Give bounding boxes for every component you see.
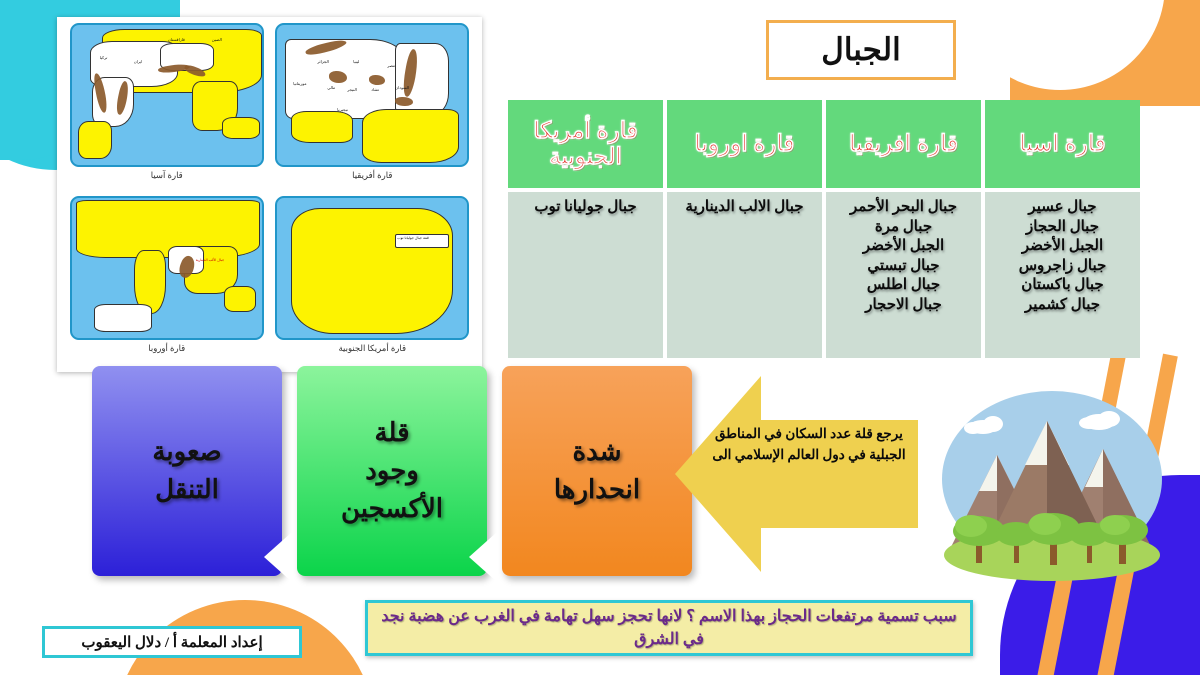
map-panel-asia: ايران تركيا قازاقستان الصين قارة آسيا <box>65 23 269 194</box>
chevron-box-oxygen[interactable]: قلة وجود الأكسجين <box>297 366 487 576</box>
map-label: الجزائر <box>317 59 329 64</box>
map-label: مصر <box>387 63 395 68</box>
map-caption-asia: قارة آسيا <box>151 170 183 181</box>
map-label-dinaric-alps: جبال الألب الدينارية <box>196 258 225 262</box>
map-caption-africa: قارة أفريقيا <box>352 170 392 181</box>
maps-image-card: الجزائر ليبيا مصر موريتانيا مالي النيجر … <box>57 17 482 372</box>
map-label: موريتانيا <box>293 81 306 86</box>
yellow-callout-arrow-text: يرجع قلة عدد السكان في المناطق الجبلية ف… <box>711 424 907 466</box>
bottom-info-banner: سبب تسمية مرتفعات الحجاز بهذا الاسم ؟ لا… <box>365 600 973 656</box>
table-cell-europe: جبال الالب الدينارية <box>667 192 822 358</box>
slide-canvas: الجزائر ليبيا مصر موريتانيا مالي النيجر … <box>0 0 1200 675</box>
map-caption-europe: قارة أوروبا <box>148 343 185 354</box>
list-item: جبال اطلس <box>834 276 973 296</box>
map-frame-europe: جبال الألب الدينارية <box>70 196 264 340</box>
mountains-icon <box>935 387 1170 582</box>
chevron-arrow-icon <box>264 532 292 582</box>
table-header-label: قارة افريقيا <box>849 131 958 157</box>
table-cell-south-america: جبال جوليانا توب <box>508 192 663 358</box>
list-item: جبال جوليانا توب <box>516 198 655 218</box>
map-label: تشاد <box>371 87 379 92</box>
chevron-line: وجود <box>365 456 419 485</box>
chevron-box-mobility-label: صعوبة التنقل <box>152 433 221 508</box>
list-item: جبال زاجروس <box>993 257 1132 277</box>
chevron-line: الأكسجين <box>341 494 443 523</box>
map-panel-south-america: قمة جبال جوليانا توب قارة أمريكا الجنوبي… <box>271 196 475 367</box>
chevron-box-oxygen-label: قلة وجود الأكسجين <box>341 414 443 527</box>
mountains-illustration <box>935 387 1170 582</box>
map-frame-south-america: قمة جبال جوليانا توب <box>275 196 469 340</box>
list-item: جبال الاحجار <box>834 296 973 316</box>
bottom-info-banner-text: سبب تسمية مرتفعات الحجاز بهذا الاسم ؟ لا… <box>380 605 958 651</box>
page-title-text: الجبال <box>821 32 900 68</box>
effects-chevron-row: شدة انحدارها قلة وجود الأكسجين صعوبة الت… <box>92 366 692 588</box>
mountains-table: قارة اسيا قارة افريقيا قارة اوروبا قارة … <box>508 100 1140 358</box>
chevron-box-mobility[interactable]: صعوبة التنقل <box>92 366 282 576</box>
chevron-arrow-icon <box>469 532 497 582</box>
table-header-label: قارة اوروبا <box>694 131 794 157</box>
yellow-callout-arrow: يرجع قلة عدد السكان في المناطق الجبلية ف… <box>673 368 918 580</box>
table-header-label: قارة اسيا <box>1019 131 1106 157</box>
author-credit-box: إعداد المعلمة أ / دلال اليعقوب <box>42 626 302 658</box>
list-item: جبال مرة <box>834 218 973 238</box>
list-item: جبال الحجاز <box>993 218 1132 238</box>
map-label: ليبيا <box>353 59 359 64</box>
list-item: جبال الالب الدينارية <box>675 198 814 218</box>
list-item: جبال عسير <box>993 198 1132 218</box>
chevron-line: قلة <box>375 418 410 447</box>
map-caption-south-america: قارة أمريكا الجنوبية <box>338 343 406 354</box>
map-panel-europe: جبال الألب الدينارية قارة أوروبا <box>65 196 269 367</box>
chevron-line: التنقل <box>155 475 219 504</box>
chevron-line: انحدارها <box>554 475 640 504</box>
list-item: جبال باكستان <box>993 276 1132 296</box>
table-header-cell-africa: قارة افريقيا <box>826 100 981 188</box>
left-arrow-icon <box>673 368 918 580</box>
chevron-box-steepness-label: شدة انحدارها <box>554 433 640 508</box>
map-label: النيجر <box>347 87 357 92</box>
list-item: جبال تبستي <box>834 257 973 277</box>
table-cell-asia: جبال عسير جبال الحجاز الجبل الأخضر جبال … <box>985 192 1140 358</box>
map-label: مالي <box>327 85 335 90</box>
list-item: الجبل الأخضر <box>834 237 973 257</box>
chevron-box-steepness[interactable]: شدة انحدارها <box>502 366 692 576</box>
list-item: الجبل الأخضر <box>993 237 1132 257</box>
chevron-line: صعوبة <box>152 437 221 466</box>
list-item: جبال البحر الأحمر <box>834 198 973 218</box>
table-cell-africa: جبال البحر الأحمر جبال مرة الجبل الأخضر … <box>826 192 981 358</box>
table-header-cell-europe: قارة اوروبا <box>667 100 822 188</box>
table-header-cell-south-america: قارة أمريكا الجنوبية <box>508 100 663 188</box>
chevron-line: شدة <box>572 437 621 466</box>
map-frame-asia: ايران تركيا قازاقستان الصين <box>70 23 264 167</box>
list-item: جبال كشمير <box>993 296 1132 316</box>
author-credit-text: إعداد المعلمة أ / دلال اليعقوب <box>81 633 262 652</box>
map-label-guiana-peak: قمة جبال جوليانا توب <box>397 236 428 240</box>
map-panel-africa: الجزائر ليبيا مصر موريتانيا مالي النيجر … <box>271 23 475 194</box>
table-header-label: قارة أمريكا الجنوبية <box>512 118 659 170</box>
page-title: الجبال <box>766 20 956 80</box>
map-label: السودان <box>395 85 409 90</box>
map-frame-africa: الجزائر ليبيا مصر موريتانيا مالي النيجر … <box>275 23 469 167</box>
map-label: نيجيريا <box>337 107 348 112</box>
table-header-cell-asia: قارة اسيا <box>985 100 1140 188</box>
